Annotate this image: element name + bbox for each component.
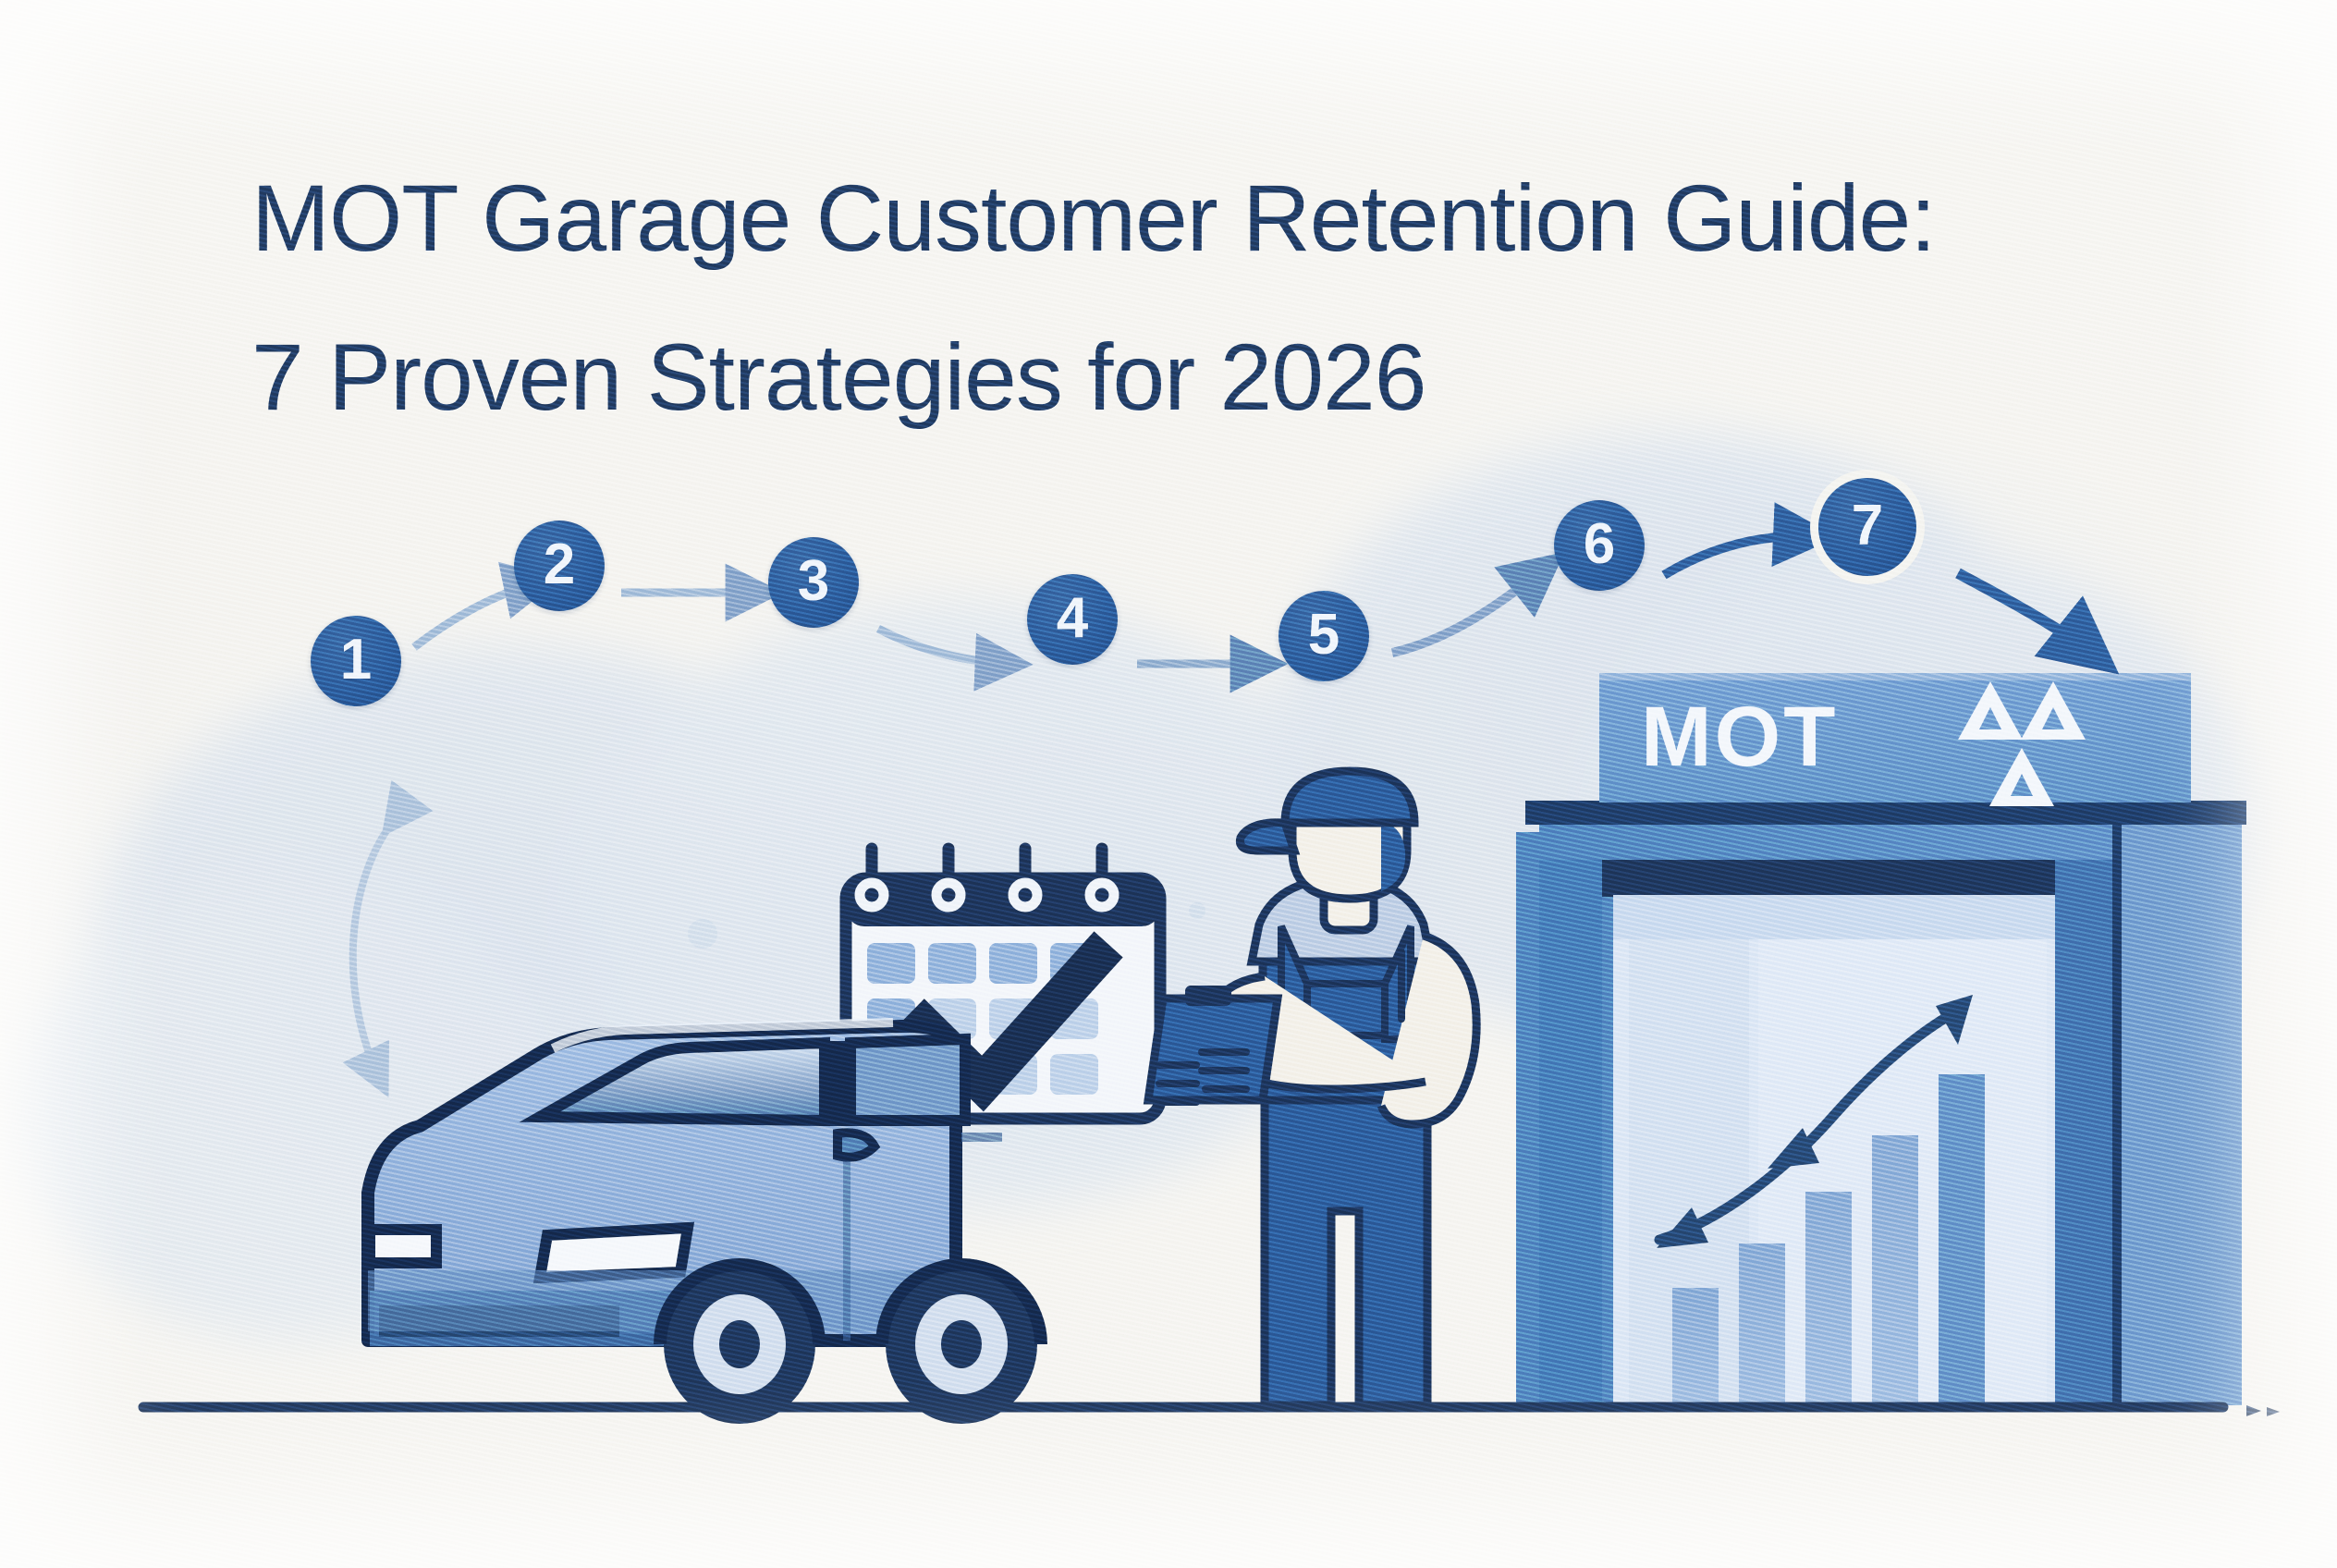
arrow-5-to-6 (1392, 566, 1548, 653)
step-number-label: 1 (340, 627, 372, 692)
step-number-label: 3 (798, 548, 829, 614)
step-number-label: 6 (1584, 511, 1615, 577)
step-circle-1[interactable]: 1 (311, 616, 401, 706)
step-number-label: 5 (1308, 602, 1340, 668)
step-circle-7[interactable]: 7 (1818, 478, 1916, 576)
step-number-label: 2 (544, 532, 575, 597)
step-circle-3[interactable]: 3 (768, 537, 859, 628)
flow-arrows (0, 0, 2337, 1568)
step-circle-2[interactable]: 2 (514, 521, 605, 611)
step-number-label: 7 (1852, 493, 1883, 558)
step-number-label: 4 (1057, 585, 1088, 651)
arrow-6-to-7 (1664, 536, 1814, 575)
poster-canvas: MOT Garage Customer Retention Guide: 7 P… (0, 0, 2337, 1568)
step-circle-5[interactable]: 5 (1279, 591, 1369, 681)
arrow-loop-back (353, 823, 392, 1082)
step-circle-6[interactable]: 6 (1554, 500, 1645, 591)
step-circle-4[interactable]: 4 (1027, 574, 1118, 665)
arrow-3-to-4 (878, 629, 1013, 664)
arrow-7-to-garage (1958, 573, 2097, 656)
